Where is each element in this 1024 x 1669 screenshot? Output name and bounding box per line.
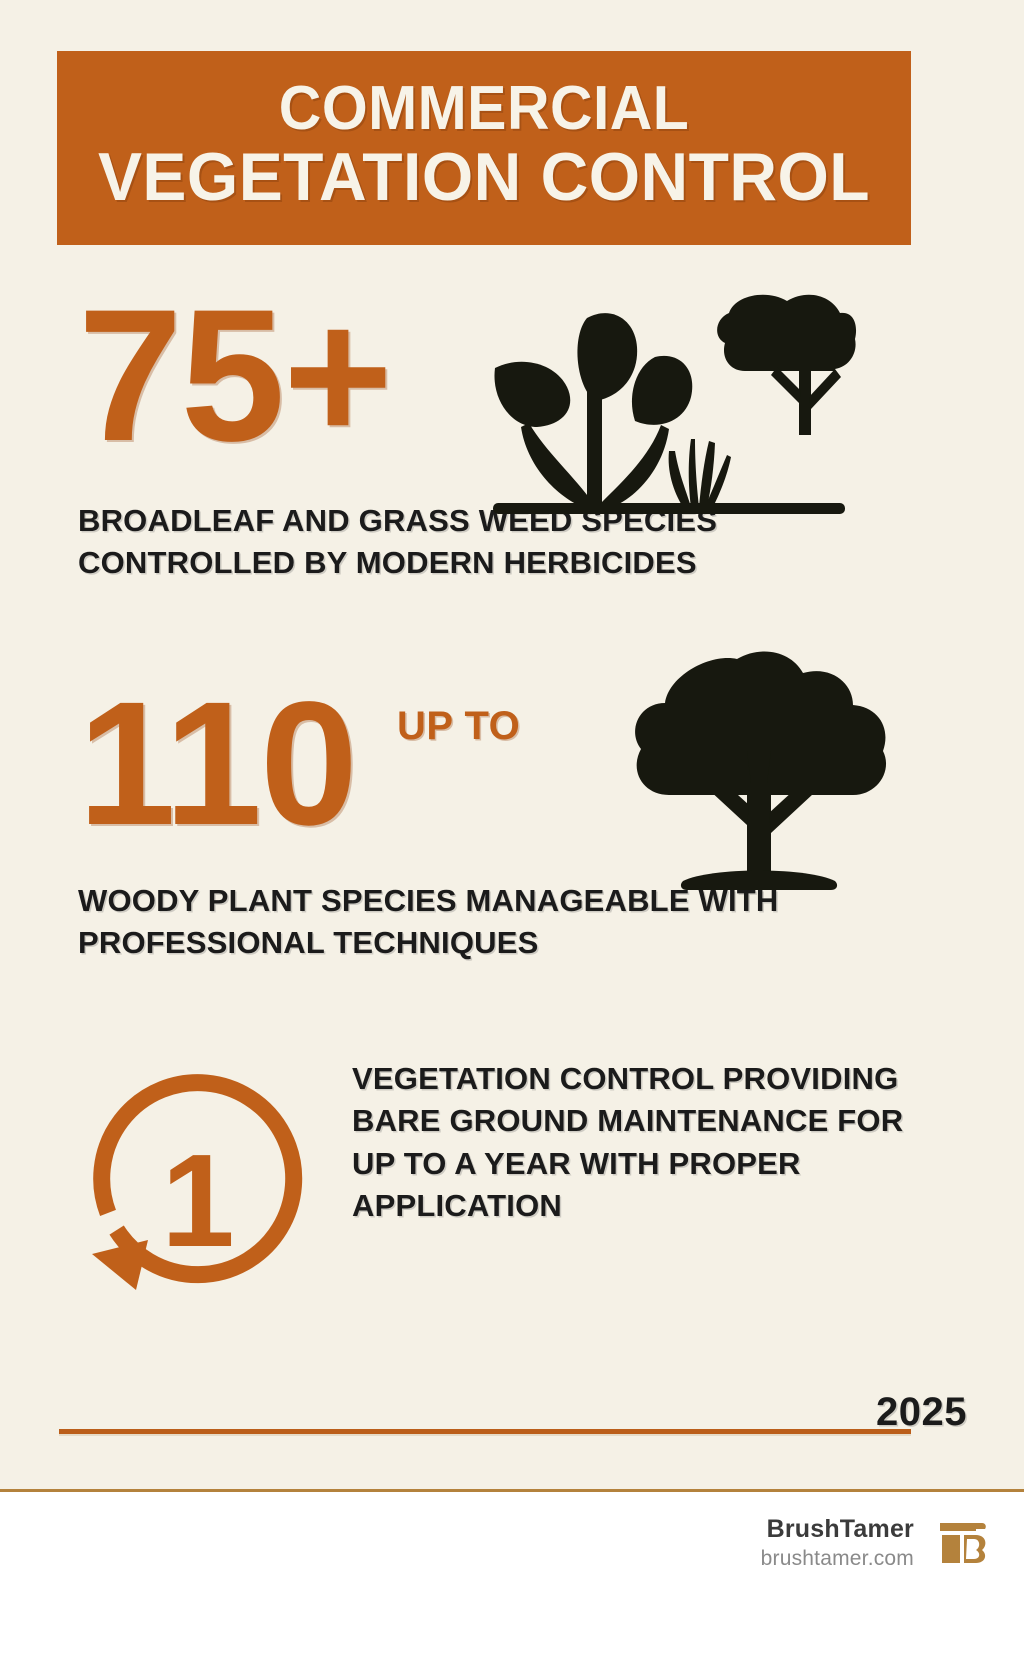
stat-1-number: 75+	[78, 296, 391, 456]
footer-divider	[59, 1429, 911, 1434]
brand-text: BrushTamer brushtamer.com	[761, 1514, 914, 1573]
plants-and-tree-icon	[483, 275, 858, 520]
brand-url: brushtamer.com	[761, 1545, 914, 1572]
stat-3-number: 1	[161, 1127, 234, 1274]
infographic-poster: COMMERCIAL VEGETATION CONTROL 75+ BROADL…	[0, 0, 1024, 1666]
tree-icon	[625, 645, 895, 900]
footer-year: 2025	[876, 1390, 967, 1435]
stat-3-caption: VEGETATION CONTROL PROVIDING BARE GROUND…	[352, 1058, 912, 1228]
brand-inner: BrushTamer brushtamer.com	[761, 1514, 988, 1573]
brand-bar: BrushTamer brushtamer.com	[0, 1489, 1024, 1669]
stat-2-qualifier: UP TO	[397, 704, 520, 749]
cycle-arrow-icon: 1	[82, 1068, 314, 1300]
header-title-line-2: VEGETATION CONTROL	[98, 145, 870, 210]
brand-name: BrushTamer	[761, 1514, 914, 1545]
poster-header-band: COMMERCIAL VEGETATION CONTROL	[57, 51, 911, 245]
header-title-line-1: COMMERCIAL	[279, 80, 689, 139]
brushtamer-b-logo-icon	[936, 1517, 988, 1569]
stat-2-number: 110	[78, 690, 356, 840]
